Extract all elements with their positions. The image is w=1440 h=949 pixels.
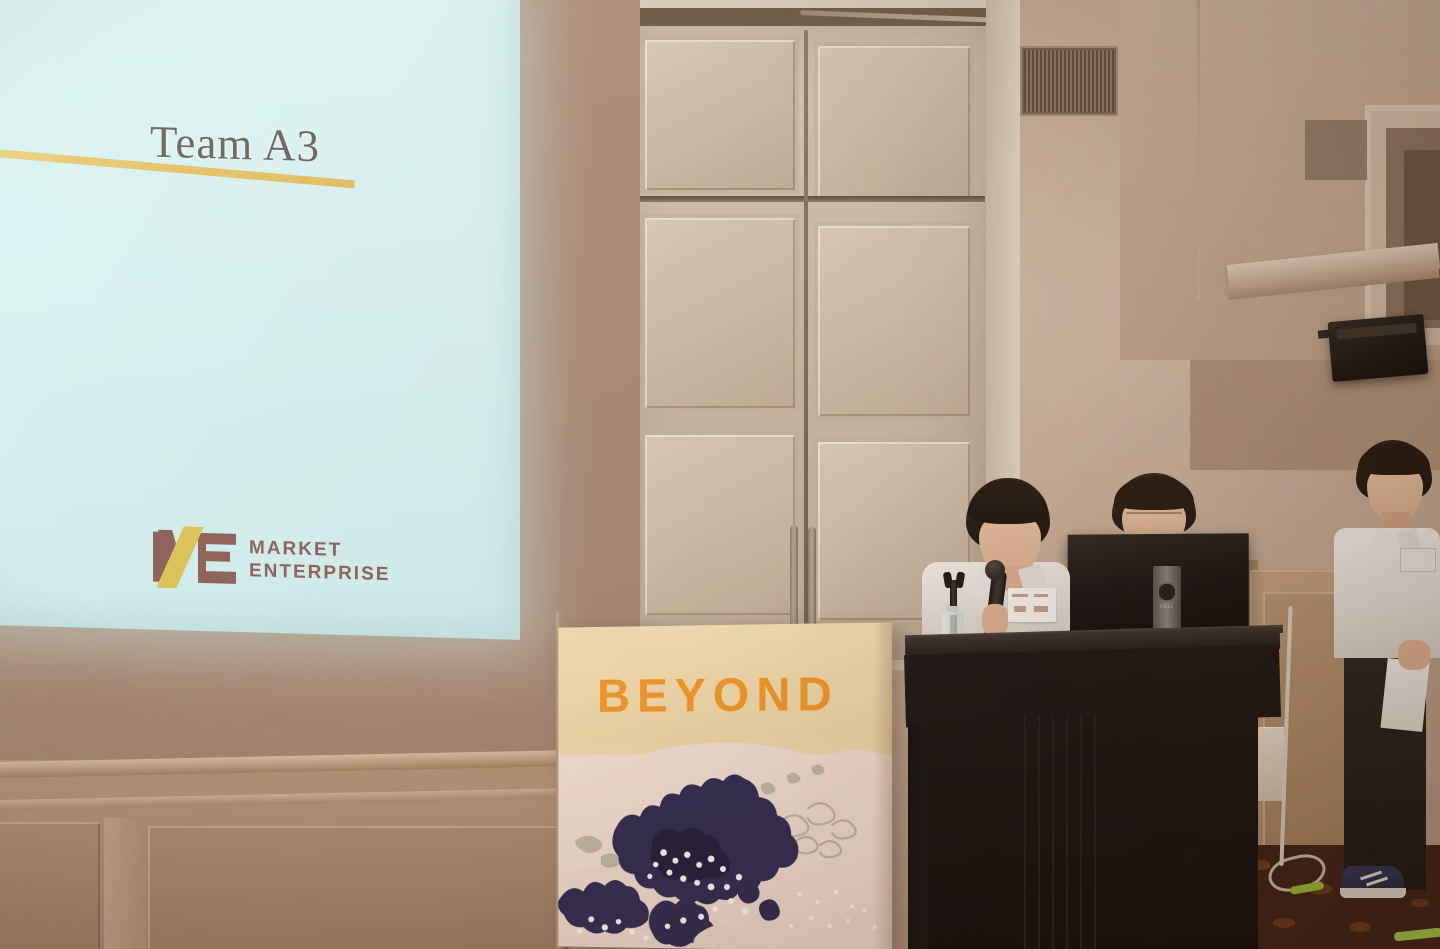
- logo-line-2: ENTERPRISE: [249, 559, 390, 586]
- door-panel: [645, 435, 795, 615]
- dell-brand-label: DELL: [1155, 604, 1179, 610]
- wainscot-panel: [0, 822, 100, 949]
- market-enterprise-logo: MARKET ENTERPRISE: [153, 528, 368, 596]
- dell-logo-icon: [1157, 582, 1177, 602]
- next-presenter-hand: [1398, 640, 1430, 670]
- great-wave-illustration: [558, 622, 892, 949]
- door-panel: [818, 46, 970, 198]
- wall-speaker-icon: [1328, 314, 1429, 382]
- door-panel: [645, 218, 795, 408]
- ventilation-grille-icon: [1020, 46, 1118, 116]
- operator-brow: [1126, 512, 1182, 522]
- sneaker-sole: [1340, 888, 1406, 898]
- banner-edge-shadow: [874, 622, 892, 949]
- logo-wordmark: MARKET ENTERPRISE: [249, 536, 390, 586]
- projected-slide: Team A3 MARKET ENTERPRISE: [0, 0, 520, 640]
- podium-front: [928, 716, 1258, 949]
- beyond-banner: BEYOND: [558, 622, 892, 949]
- vent-louvers: [1024, 50, 1114, 112]
- speaker-name-badge: [1008, 588, 1056, 622]
- door-panel: [645, 40, 795, 190]
- wall-seam: [1197, 0, 1200, 300]
- door-panel: [818, 226, 970, 416]
- presentation-scene-photo: Team A3 MARKET ENTERPRISE: [0, 0, 1440, 949]
- wall-panel: [1305, 120, 1367, 180]
- projection-screen: Team A3 MARKET ENTERPRISE: [0, 0, 520, 640]
- wainscot-panel: [148, 826, 568, 949]
- me-monogram-icon: [153, 528, 239, 588]
- podium-apron: [904, 645, 1281, 727]
- speaker-hand: [982, 604, 1008, 636]
- alcove-opening: [1404, 150, 1440, 320]
- shirt-pocket-badge: [1400, 548, 1436, 572]
- slide-title: Team A3: [150, 115, 320, 172]
- wainscot-stile: [104, 818, 146, 949]
